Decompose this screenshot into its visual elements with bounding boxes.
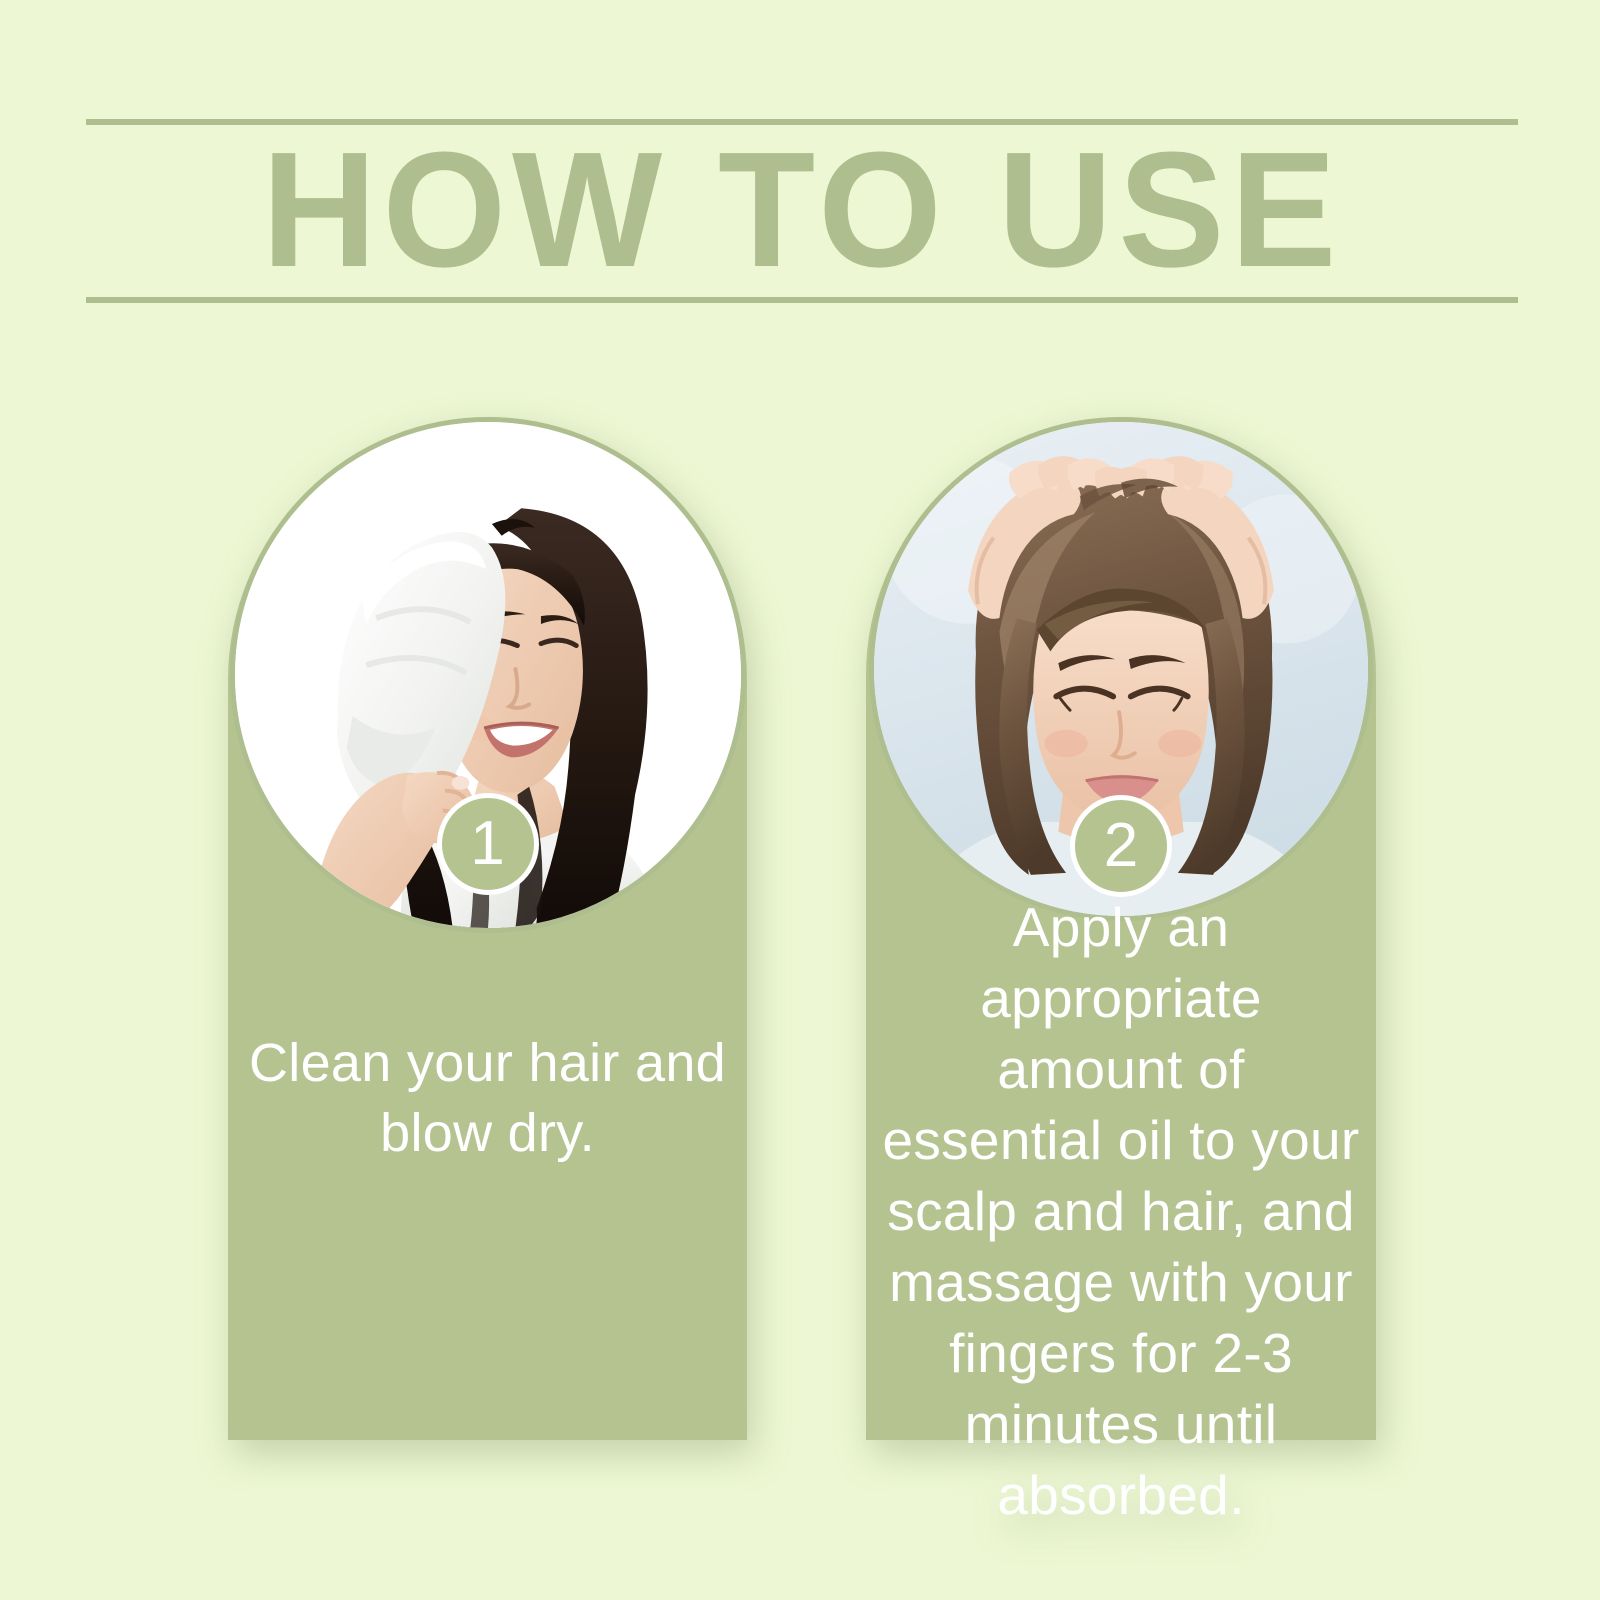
step-badge-2: 2 xyxy=(1070,795,1172,897)
step-card-1: 1 Clean your hair and blow dry. xyxy=(228,420,747,1440)
header-bottom-rule xyxy=(86,297,1518,303)
step-badge-1: 1 xyxy=(437,793,539,895)
header: HOW TO USE xyxy=(86,112,1518,304)
step-caption-2: Apply an appropriate amount of essential… xyxy=(866,892,1376,1531)
page-title: HOW TO USE xyxy=(107,130,1496,290)
step-card-2: 2 Apply an appropriate amount of essenti… xyxy=(866,420,1376,1440)
step-caption-1: Clean your hair and blow dry. xyxy=(228,1028,747,1168)
infographic-page: HOW TO USE xyxy=(0,0,1600,1600)
